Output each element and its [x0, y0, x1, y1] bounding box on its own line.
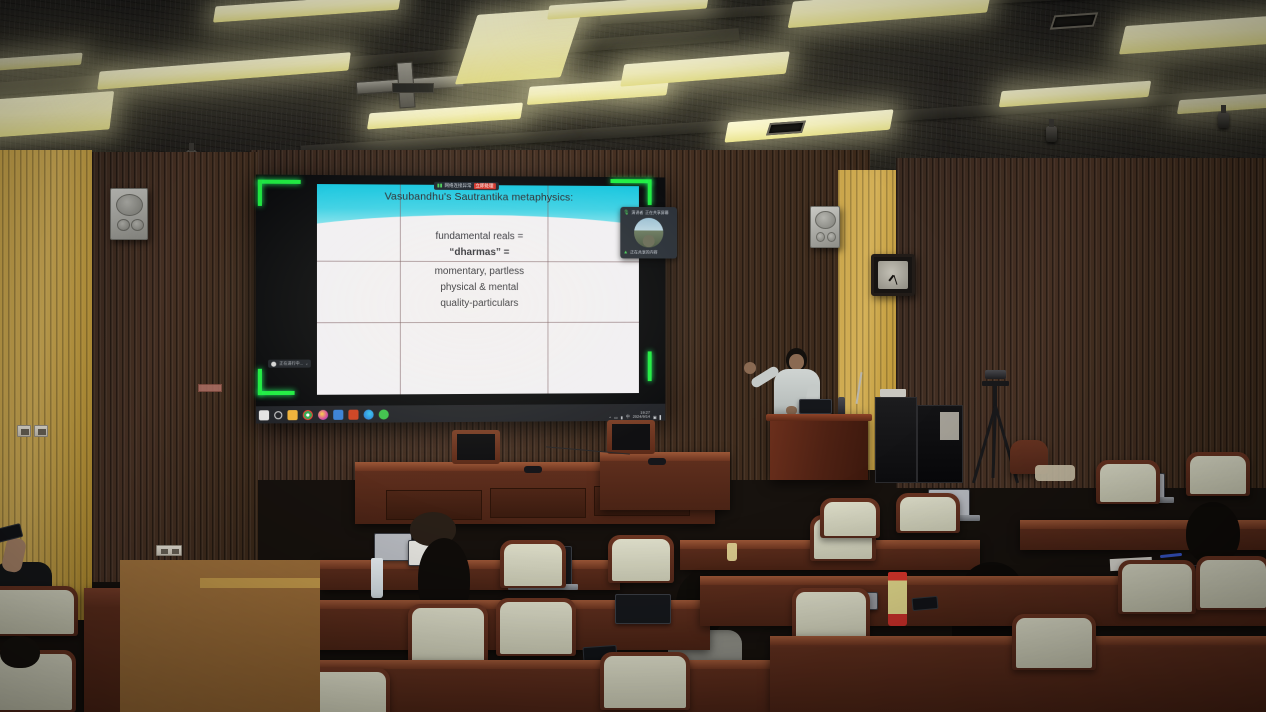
slide-grid-line — [317, 322, 639, 323]
speaker-cone-small — [816, 232, 825, 242]
folder-icon[interactable] — [287, 410, 297, 420]
video-panel-footer-text: 正在共享的内容 — [630, 249, 657, 255]
system-tray[interactable]: ^ ▭ ▮ 中 19:27 2024/9/14 ▣ ▌ — [609, 411, 662, 420]
chair-cushion — [1190, 456, 1246, 494]
table-microphone — [648, 458, 666, 465]
edge-icon[interactable] — [364, 409, 374, 419]
video-conference-panel[interactable]: 🎙 演讲者 正在共享屏幕 ▲ 正在共享的内容 — [620, 207, 677, 259]
podium-top-surface — [766, 414, 872, 421]
slide-line: “dharmas” = — [317, 245, 639, 262]
show-desktop-icon[interactable]: ▌ — [660, 415, 663, 420]
floor-stage-edge — [200, 578, 320, 588]
clock-face — [878, 261, 908, 289]
powerpoint-icon[interactable] — [348, 409, 358, 419]
audience-chair — [0, 586, 78, 636]
slide-line: momentary, partless — [317, 264, 639, 280]
slide-title: Vasubandhu's Sautrantika metaphysics: — [317, 190, 639, 204]
search-icon[interactable] — [274, 411, 282, 419]
audience-chair — [1196, 556, 1266, 610]
audience-chair — [1012, 614, 1096, 670]
speaker-cone-small — [827, 232, 836, 242]
audience-chair — [496, 598, 576, 656]
audience-chair — [600, 652, 690, 710]
chair-cushion — [796, 592, 866, 642]
audience-chair — [1118, 560, 1196, 614]
audience-chair — [408, 604, 488, 666]
projection-screen: Vasubandhu's Sautrantika metaphysics: fu… — [256, 175, 665, 424]
person-head — [1186, 502, 1240, 564]
video-panel-name: 演讲者 — [631, 210, 643, 216]
slide-line: quality-particulars — [317, 296, 639, 312]
rack-paper-sheet — [940, 412, 959, 440]
front-monitor-screen — [457, 434, 495, 460]
chrome-icon[interactable] — [303, 409, 313, 419]
lecture-hall-photo: Vasubandhu's Sautrantika metaphysics: fu… — [0, 0, 1266, 712]
chair-cushion — [504, 544, 562, 586]
share-icon: ▲ — [623, 249, 628, 255]
speaker-cone-large — [116, 194, 143, 216]
speaker-cone-small — [131, 219, 144, 231]
table-microphone — [524, 466, 542, 473]
notification-action-badge[interactable]: 立即处理 — [473, 183, 495, 189]
desk-top — [320, 560, 620, 569]
user-avatar-icon — [634, 218, 663, 248]
chair-cushion — [1100, 464, 1156, 502]
chair-cushion — [412, 608, 484, 664]
chair-cushion — [500, 602, 572, 654]
chair-cushion — [900, 497, 956, 531]
wall-speaker — [810, 206, 840, 248]
clock-minute-hand — [893, 275, 897, 285]
speaker-cone-large — [815, 211, 836, 229]
windows-icon[interactable] — [259, 410, 269, 420]
audience-laptop — [374, 533, 412, 561]
video-panel-header: 🎙 演讲者 正在共享屏幕 — [623, 210, 674, 216]
front-table-panel — [490, 488, 586, 518]
ime-icon[interactable]: 中 — [626, 414, 630, 420]
chair-cushion — [0, 590, 74, 634]
audience-chair — [1186, 452, 1250, 496]
rack-top-device — [880, 389, 906, 397]
chair-cushion — [1200, 560, 1266, 608]
alignment-marker-top-left — [258, 180, 301, 184]
slide-line: fundamental reals = — [317, 228, 639, 245]
meeting-status-pill[interactable]: 正在进行中... ‹ — [268, 360, 310, 368]
person-head — [0, 636, 40, 668]
alignment-marker-bottom-left — [258, 369, 262, 395]
track-spotlight — [1218, 112, 1229, 128]
equipment-rack — [875, 397, 917, 483]
slide-body: fundamental reals = “dharmas” = momentar… — [317, 228, 639, 312]
outlet-slot — [161, 549, 168, 554]
water-bottle — [888, 572, 907, 626]
front-monitor-screen — [612, 424, 650, 450]
alignment-marker-top-right — [648, 179, 652, 205]
meeting-status-label: 正在进行中... — [279, 361, 303, 367]
audience-chair — [896, 493, 960, 533]
recording-camera — [985, 370, 1006, 379]
outlet-slot — [172, 549, 179, 554]
switch-rocker — [21, 429, 29, 435]
audience-laptop — [615, 594, 671, 624]
audience-chair — [608, 535, 674, 583]
presenter-face — [789, 354, 804, 370]
audience-chair — [820, 498, 880, 538]
wechat-icon[interactable] — [379, 409, 389, 419]
alignment-marker-top-left — [258, 180, 262, 206]
alignment-marker-bottom-left — [258, 391, 295, 395]
wall-speaker — [110, 188, 148, 240]
podium — [770, 414, 868, 480]
audience-chair — [500, 540, 566, 588]
video-panel-status: 正在共享屏幕 — [645, 210, 668, 216]
emergency-button-sign — [198, 384, 222, 392]
podium-laptop — [799, 399, 832, 414]
taskbar-clock[interactable]: 19:27 2024/9/14 — [633, 411, 650, 420]
chair-cushion — [824, 502, 876, 536]
smartphone — [911, 596, 938, 611]
audience-chair — [1096, 460, 1160, 504]
alignment-marker-bottom-right — [648, 351, 652, 381]
chair-cushion — [1016, 618, 1092, 668]
water-bottle — [371, 558, 383, 598]
speaker-cone-small — [117, 219, 130, 231]
hvac-diffuser — [392, 83, 434, 93]
wall-switch — [17, 425, 31, 437]
video-panel-footer: ▲ 正在共享的内容 — [623, 249, 674, 255]
notification-text: 网络连接异常 — [445, 183, 472, 189]
chair-cushion — [612, 539, 670, 581]
alignment-marker-top-right — [611, 179, 652, 183]
wall-clock — [871, 254, 915, 296]
track-spotlight — [1046, 126, 1057, 142]
microphone-icon: 🎙 — [623, 210, 629, 216]
network-notification[interactable]: ▮▮ 网络连接异常 立即处理 — [434, 182, 498, 190]
wall-switch — [34, 425, 48, 437]
taskbar-date: 2024/9/14 — [633, 414, 650, 419]
chevron-left-icon[interactable]: ‹ — [306, 361, 307, 366]
slide-line: physical & mental — [317, 280, 639, 296]
chair-cushion — [1122, 564, 1192, 612]
pen — [1160, 553, 1182, 558]
presenter-hand — [744, 362, 756, 374]
wall-outlet — [156, 545, 182, 556]
windows-taskbar[interactable]: ^ ▭ ▮ 中 19:27 2024/9/14 ▣ ▌ — [256, 404, 665, 424]
slide-line-bold: “dharmas” = — [449, 247, 509, 258]
meeting-icon[interactable] — [333, 409, 343, 419]
chair-cushion — [604, 656, 686, 708]
presentation-slide: Vasubandhu's Sautrantika metaphysics: fu… — [317, 184, 639, 395]
signal-bars-icon: ▮▮ — [437, 183, 443, 189]
photos-icon[interactable] — [318, 409, 328, 419]
notification-icon[interactable]: ▣ — [653, 415, 657, 420]
record-dot-icon — [271, 361, 276, 366]
stage-cloth — [1035, 465, 1075, 481]
water-bottle — [727, 543, 737, 561]
switch-rocker — [38, 429, 46, 435]
